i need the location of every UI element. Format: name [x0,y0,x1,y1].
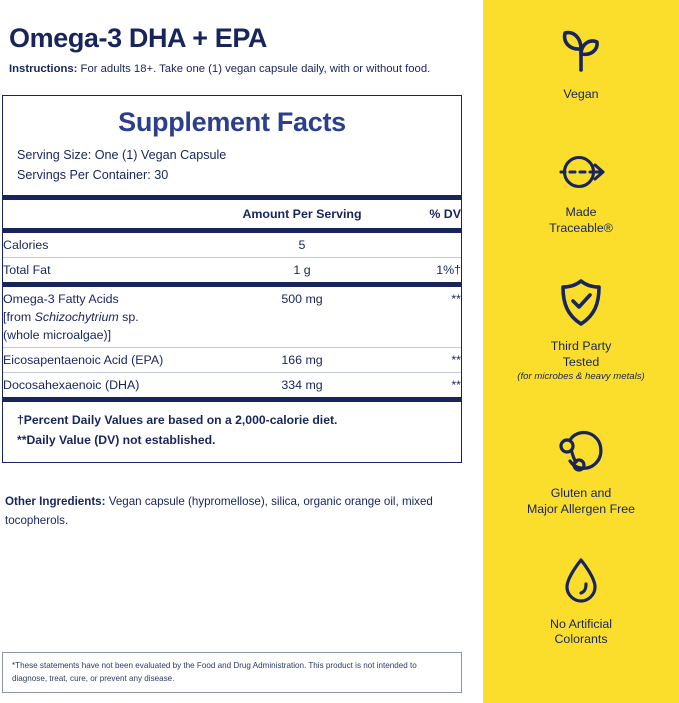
page-title: Omega-3 DHA + EPA [9,24,483,54]
row-dv-calories [377,233,461,258]
row-name-total-fat: Total Fat [3,258,227,283]
servings-per-container: Servings Per Container: 30 [17,166,461,186]
row-name-omega3-main: Omega-3 Fatty Acids [3,292,119,306]
row-amount-dha: 334 mg [227,373,377,398]
row-name-omega3-source-line2: (whole microalgae)] [3,324,227,342]
table-header-row: Amount Per Serving % DV [3,200,461,228]
fda-disclaimer: *These statements have not been evaluate… [2,652,462,693]
badge-label-no-artificial-colorants: No Artificial Colorants [483,617,679,649]
row-name-epa: Eicosapentaenoic Acid (EPA) [3,348,227,373]
row-name-omega3-source-line1: [from Schizochytrium sp. [3,306,227,324]
source-suffix: sp. [119,310,139,324]
droplet-icon [483,551,679,607]
badge-label-made-traceable: Made Traceable® [483,205,679,237]
table-row: Docosahexaenoic (DHA) 334 mg ** [3,373,461,398]
row-dv-dha: ** [377,373,461,398]
badge-label-third-party-tested: Third Party Tested [483,339,679,371]
instructions-text: Instructions: For adults 18+. Take one (… [9,62,483,77]
row-name-omega3: Omega-3 Fatty Acids [from Schizochytrium… [3,287,227,348]
footnote-dv-not-established: **Daily Value (DV) not established. [17,431,461,451]
badge-no-artificial-colorants: No Artificial Colorants [483,551,679,649]
allergen-icon [483,420,679,476]
table-row: Total Fat 1 g 1%† [3,258,461,283]
badge-sublabel-third-party-tested: (for microbes & heavy metals) [483,371,679,383]
row-dv-omega3: ** [377,287,461,348]
label-page: Omega-3 DHA + EPA Instructions: For adul… [0,0,679,703]
serving-size: Serving Size: One (1) Vegan Capsule [17,146,461,166]
footnotes: †Percent Daily Values are based on a 2,0… [3,402,461,462]
row-dv-total-fat: 1%† [377,258,461,283]
column-header-amount: Amount Per Serving [227,200,377,228]
supplement-facts-title: Supplement Facts [3,96,461,146]
other-ingredients: Other Ingredients: Vegan capsule (hyprom… [5,493,457,531]
badge-label-allergen-free: Gluten and Major Allergen Free [483,486,679,518]
column-header-dv: % DV [377,200,461,228]
column-header-name [3,200,227,228]
traceable-icon [483,139,679,195]
row-amount-total-fat: 1 g [227,258,377,283]
nutrition-table-basic: Calories 5 Total Fat 1 g 1%† [3,233,461,282]
badge-third-party-tested: Third Party Tested (for microbes & heavy… [483,273,679,384]
badge-vegan: Vegan [483,21,679,103]
row-amount-epa: 166 mg [227,348,377,373]
badge-allergen-free: Gluten and Major Allergen Free [483,420,679,518]
serving-info: Serving Size: One (1) Vegan Capsule Serv… [3,146,461,195]
row-dv-epa: ** [377,348,461,373]
row-name-calories: Calories [3,233,227,258]
badge-made-traceable: Made Traceable® [483,139,679,237]
row-amount-calories: 5 [227,233,377,258]
other-ingredients-label: Other Ingredients: [5,495,106,508]
shield-check-icon [483,273,679,329]
table-row: Omega-3 Fatty Acids [from Schizochytrium… [3,287,461,348]
source-genus: Schizochytrium [35,310,119,324]
nutrition-table-omega: Omega-3 Fatty Acids [from Schizochytrium… [3,287,461,397]
sprout-icon [483,21,679,77]
row-name-dha: Docosahexaenoic (DHA) [3,373,227,398]
footnote-daily-values: †Percent Daily Values are based on a 2,0… [17,411,461,431]
table-row: Calories 5 [3,233,461,258]
table-row: Eicosapentaenoic Acid (EPA) 166 mg ** [3,348,461,373]
supplement-facts-box: Supplement Facts Serving Size: One (1) V… [2,95,462,463]
nutrition-table: Amount Per Serving % DV [3,200,461,228]
supplement-info-panel: Omega-3 DHA + EPA Instructions: For adul… [0,0,483,703]
instructions-label: Instructions: [9,63,77,75]
badges-panel: Vegan Made Traceable® [483,0,679,703]
row-amount-omega3: 500 mg [227,287,377,348]
instructions-body: For adults 18+. Take one (1) vegan capsu… [77,63,430,75]
badge-label-vegan: Vegan [483,87,679,103]
source-prefix: [from [3,310,35,324]
